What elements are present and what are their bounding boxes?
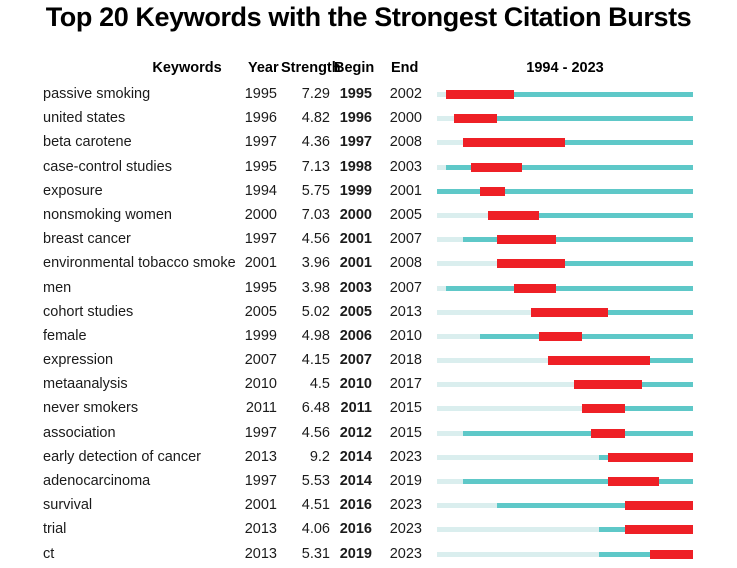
cell-keyword: men — [43, 280, 249, 297]
cell-year: 2013 — [237, 449, 277, 466]
table-row: men19953.9820032007 — [0, 278, 737, 302]
segment-active-before-burst — [463, 479, 608, 484]
timeline-track — [437, 181, 693, 205]
segment-pre-appearance — [437, 286, 446, 291]
segment-pre-appearance — [437, 334, 480, 339]
timeline-track — [437, 495, 693, 519]
table-row: female19994.9820062010 — [0, 326, 737, 350]
segment-pre-appearance — [437, 479, 463, 484]
segment-active-after-burst — [582, 334, 693, 339]
cell-end: 2005 — [388, 207, 422, 224]
table-row: early detection of cancer20139.220142023 — [0, 447, 737, 471]
cell-strength: 4.5 — [278, 376, 330, 393]
cell-end: 2008 — [388, 255, 422, 272]
segment-active-before-burst — [599, 552, 650, 557]
table-row: united states19964.8219962000 — [0, 108, 737, 132]
segment-pre-appearance — [437, 503, 497, 508]
table-header: Keywords Year Strength Begin End 1994 - … — [0, 60, 737, 80]
table-row: survival20014.5120162023 — [0, 495, 737, 519]
cell-begin: 2014 — [332, 449, 372, 466]
timeline-track — [437, 229, 693, 253]
column-header-keywords: Keywords — [127, 60, 247, 76]
column-header-end: End — [391, 60, 421, 76]
cell-keyword: beta carotene — [43, 134, 249, 151]
cell-begin: 2012 — [332, 425, 372, 442]
table-row: exposure19945.7519992001 — [0, 181, 737, 205]
cell-keyword: female — [43, 328, 249, 345]
segment-pre-appearance — [437, 431, 463, 436]
cell-begin: 2006 — [332, 328, 372, 345]
cell-end: 2023 — [388, 497, 422, 514]
cell-strength: 5.02 — [278, 304, 330, 321]
cell-begin: 2019 — [332, 546, 372, 563]
cell-strength: 9.2 — [278, 449, 330, 466]
cell-year: 1994 — [237, 183, 277, 200]
cell-begin: 2007 — [332, 352, 372, 369]
cell-year: 2011 — [237, 400, 277, 417]
cell-year: 1995 — [237, 86, 277, 103]
cell-begin: 1998 — [332, 159, 372, 176]
segment-active-before-burst — [599, 527, 625, 532]
segment-burst — [608, 477, 659, 486]
timeline-track — [437, 350, 693, 374]
cell-end: 2007 — [388, 231, 422, 248]
segment-burst — [574, 380, 642, 389]
segment-burst — [625, 501, 693, 510]
column-header-strength: Strength — [281, 60, 333, 76]
segment-burst — [582, 404, 625, 413]
column-header-year-range: 1994 - 2023 — [437, 60, 693, 76]
cell-strength: 5.31 — [278, 546, 330, 563]
cell-year: 2001 — [237, 497, 277, 514]
cell-strength: 4.56 — [278, 425, 330, 442]
cell-keyword: cohort studies — [43, 304, 249, 321]
cell-end: 2013 — [388, 304, 422, 321]
cell-year: 2000 — [237, 207, 277, 224]
cell-year: 1997 — [237, 473, 277, 490]
cell-end: 2023 — [388, 449, 422, 466]
cell-year: 2007 — [237, 352, 277, 369]
cell-keyword: breast cancer — [43, 231, 249, 248]
segment-active-after-burst — [505, 189, 693, 194]
cell-end: 2023 — [388, 546, 422, 563]
cell-keyword: environmental tobacco smoke — [43, 255, 249, 272]
page-title: Top 20 Keywords with the Strongest Citat… — [0, 2, 737, 33]
column-header-year: Year — [248, 60, 278, 76]
cell-begin: 2001 — [332, 255, 372, 272]
cell-keyword: expression — [43, 352, 249, 369]
cell-begin: 2000 — [332, 207, 372, 224]
cell-strength: 4.51 — [278, 497, 330, 514]
table-row: expression20074.1520072018 — [0, 350, 737, 374]
segment-pre-appearance — [437, 310, 531, 315]
cell-year: 1996 — [237, 110, 277, 127]
cell-year: 1997 — [237, 134, 277, 151]
segment-burst — [514, 284, 557, 293]
cell-begin: 2011 — [332, 400, 372, 417]
cell-strength: 4.06 — [278, 521, 330, 538]
timeline-track — [437, 423, 693, 447]
cell-year: 1997 — [237, 231, 277, 248]
cell-year: 2010 — [237, 376, 277, 393]
timeline-track — [437, 326, 693, 350]
segment-active-after-burst — [522, 165, 693, 170]
citation-burst-chart: Top 20 Keywords with the Strongest Citat… — [0, 0, 737, 567]
segment-active-before-burst — [599, 455, 608, 460]
segment-burst — [463, 138, 565, 147]
segment-active-before-burst — [463, 237, 497, 242]
cell-end: 2010 — [388, 328, 422, 345]
segment-active-before-burst — [480, 334, 540, 339]
timeline-track — [437, 447, 693, 471]
segment-pre-appearance — [437, 552, 599, 557]
segment-active-before-burst — [463, 431, 591, 436]
cell-end: 2003 — [388, 159, 422, 176]
cell-begin: 2010 — [332, 376, 372, 393]
segment-burst — [591, 429, 625, 438]
segment-burst — [488, 211, 539, 220]
segment-burst — [539, 332, 582, 341]
segment-burst — [608, 453, 693, 462]
segment-pre-appearance — [437, 116, 454, 121]
segment-pre-appearance — [437, 455, 599, 460]
cell-strength: 4.82 — [278, 110, 330, 127]
segment-pre-appearance — [437, 406, 582, 411]
cell-strength: 4.56 — [278, 231, 330, 248]
cell-end: 2015 — [388, 425, 422, 442]
cell-strength: 4.36 — [278, 134, 330, 151]
cell-end: 2017 — [388, 376, 422, 393]
segment-pre-appearance — [437, 165, 446, 170]
timeline-track — [437, 471, 693, 495]
table-row: case-control studies19957.1319982003 — [0, 157, 737, 181]
segment-pre-appearance — [437, 213, 488, 218]
segment-pre-appearance — [437, 140, 463, 145]
table-row: trial20134.0620162023 — [0, 519, 737, 543]
segment-active-after-burst — [608, 310, 693, 315]
timeline-track — [437, 84, 693, 108]
cell-strength: 7.03 — [278, 207, 330, 224]
segment-burst — [446, 90, 514, 99]
segment-burst — [471, 163, 522, 172]
cell-begin: 2016 — [332, 521, 372, 538]
cell-begin: 1999 — [332, 183, 372, 200]
segment-active-after-burst — [625, 431, 693, 436]
cell-begin: 2016 — [332, 497, 372, 514]
cell-end: 2000 — [388, 110, 422, 127]
timeline-track — [437, 519, 693, 543]
segment-active-before-burst — [446, 165, 472, 170]
cell-keyword: united states — [43, 110, 249, 127]
segment-burst — [625, 525, 693, 534]
table-row: ct20135.3120192023 — [0, 544, 737, 568]
cell-keyword: nonsmoking women — [43, 207, 249, 224]
segment-burst — [497, 259, 565, 268]
cell-keyword: metaanalysis — [43, 376, 249, 393]
segment-pre-appearance — [437, 237, 463, 242]
cell-strength: 5.75 — [278, 183, 330, 200]
table-row: beta carotene19974.3619972008 — [0, 132, 737, 156]
cell-end: 2018 — [388, 352, 422, 369]
timeline-track — [437, 253, 693, 277]
timeline-track — [437, 302, 693, 326]
cell-keyword: passive smoking — [43, 86, 249, 103]
segment-active-after-burst — [642, 382, 693, 387]
cell-end: 2023 — [388, 521, 422, 538]
segment-pre-appearance — [437, 527, 599, 532]
segment-burst — [548, 356, 650, 365]
timeline-track — [437, 374, 693, 398]
segment-burst — [454, 114, 497, 123]
cell-begin: 1996 — [332, 110, 372, 127]
table-row: environmental tobacco smoke20013.9620012… — [0, 253, 737, 277]
segment-burst — [531, 308, 608, 317]
cell-year: 2005 — [237, 304, 277, 321]
table-row: nonsmoking women20007.0320002005 — [0, 205, 737, 229]
table-row: metaanalysis20104.520102017 — [0, 374, 737, 398]
cell-end: 2001 — [388, 183, 422, 200]
cell-strength: 4.98 — [278, 328, 330, 345]
cell-year: 1997 — [237, 425, 277, 442]
cell-begin: 1997 — [332, 134, 372, 151]
segment-burst — [497, 235, 557, 244]
segment-active-after-burst — [659, 479, 693, 484]
cell-begin: 2003 — [332, 280, 372, 297]
cell-end: 2002 — [388, 86, 422, 103]
segment-burst — [650, 550, 693, 559]
cell-strength: 3.96 — [278, 255, 330, 272]
cell-keyword: ct — [43, 546, 249, 563]
cell-begin: 2001 — [332, 231, 372, 248]
segment-pre-appearance — [437, 92, 446, 97]
segment-active-after-burst — [565, 261, 693, 266]
cell-end: 2015 — [388, 400, 422, 417]
cell-keyword: never smokers — [43, 400, 249, 417]
table-row: never smokers20116.4820112015 — [0, 398, 737, 422]
timeline-track — [437, 108, 693, 132]
cell-end: 2007 — [388, 280, 422, 297]
cell-strength: 3.98 — [278, 280, 330, 297]
cell-end: 2019 — [388, 473, 422, 490]
table-row: adenocarcinoma19975.5320142019 — [0, 471, 737, 495]
segment-active-after-burst — [565, 140, 693, 145]
timeline-track — [437, 278, 693, 302]
cell-year: 1995 — [237, 280, 277, 297]
cell-year: 1995 — [237, 159, 277, 176]
cell-keyword: association — [43, 425, 249, 442]
timeline-track — [437, 157, 693, 181]
timeline-track — [437, 132, 693, 156]
column-header-begin: Begin — [334, 60, 374, 76]
cell-begin: 1995 — [332, 86, 372, 103]
timeline-track — [437, 205, 693, 229]
cell-end: 2008 — [388, 134, 422, 151]
segment-active-after-burst — [514, 92, 693, 97]
table-row: breast cancer19974.5620012007 — [0, 229, 737, 253]
cell-begin: 2014 — [332, 473, 372, 490]
timeline-track — [437, 544, 693, 568]
cell-keyword: early detection of cancer — [43, 449, 249, 466]
cell-keyword: exposure — [43, 183, 249, 200]
cell-strength: 7.29 — [278, 86, 330, 103]
segment-active-after-burst — [539, 213, 693, 218]
segment-pre-appearance — [437, 358, 548, 363]
segment-burst — [480, 187, 506, 196]
cell-year: 2013 — [237, 521, 277, 538]
cell-strength: 5.53 — [278, 473, 330, 490]
segment-active-after-burst — [625, 406, 693, 411]
cell-keyword: survival — [43, 497, 249, 514]
table-row: passive smoking19957.2919952002 — [0, 84, 737, 108]
table-row: cohort studies20055.0220052013 — [0, 302, 737, 326]
cell-strength: 6.48 — [278, 400, 330, 417]
segment-active-after-burst — [556, 237, 693, 242]
timeline-track — [437, 398, 693, 422]
segment-active-before-burst — [497, 503, 625, 508]
burst-rows: passive smoking19957.2919952002united st… — [0, 84, 737, 568]
cell-strength: 4.15 — [278, 352, 330, 369]
segment-active-before-burst — [446, 286, 514, 291]
segment-pre-appearance — [437, 382, 574, 387]
cell-year: 1999 — [237, 328, 277, 345]
cell-year: 2013 — [237, 546, 277, 563]
segment-pre-appearance — [437, 261, 497, 266]
segment-active-after-burst — [497, 116, 693, 121]
cell-begin: 2005 — [332, 304, 372, 321]
cell-keyword: adenocarcinoma — [43, 473, 249, 490]
cell-year: 2001 — [237, 255, 277, 272]
segment-active-before-burst — [437, 189, 480, 194]
table-row: association19974.5620122015 — [0, 423, 737, 447]
cell-keyword: case-control studies — [43, 159, 249, 176]
segment-active-after-burst — [556, 286, 693, 291]
cell-keyword: trial — [43, 521, 249, 538]
cell-strength: 7.13 — [278, 159, 330, 176]
segment-active-after-burst — [650, 358, 693, 363]
